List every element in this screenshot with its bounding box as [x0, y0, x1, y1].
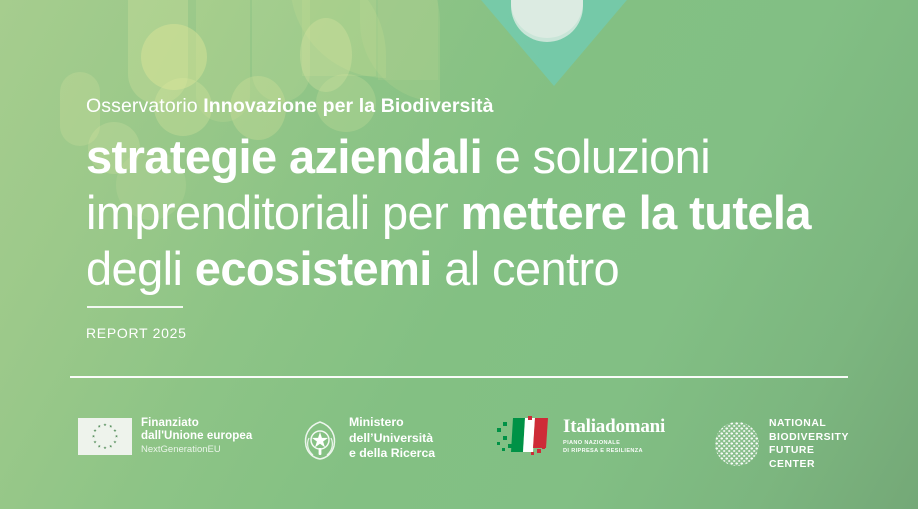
eyebrow-light: Osservatorio	[86, 95, 198, 117]
eu-star-icon	[103, 423, 106, 426]
eu-star-icon	[93, 440, 96, 443]
report-cover: Osservatorio Innovazione per la Biodiver…	[0, 0, 918, 509]
nbfc-line-2: BIODIVERSITY	[769, 431, 860, 445]
ministero-text-block: Ministero dell’Università e della Ricerc…	[349, 415, 435, 462]
ministero-line-1: Ministero	[349, 415, 435, 431]
eyebrow-bold: Innovazione per la Biodiversità	[203, 95, 493, 117]
headline-bold-2: mettere la	[461, 186, 677, 239]
eu-star-icon	[115, 435, 118, 438]
title-underline-rule	[87, 306, 183, 308]
logo-european-union: Finanziato dall'Unione europea NextGener…	[78, 417, 252, 456]
italiadomani-title: Italiadomani	[563, 417, 665, 436]
nbfc-globe-icon	[715, 422, 759, 466]
report-label: REPORT 2025	[86, 325, 187, 341]
eu-line-2: dall'Unione europea	[141, 430, 252, 443]
italiadomani-text-block: Italiadomani PIANO NAZIONALE DI RIPRESA …	[563, 417, 665, 455]
ministero-line-2: dell’Università	[349, 431, 435, 447]
nbfc-text-block: NATIONAL BIODIVERSITY FUTURE CENTER	[769, 417, 860, 472]
eu-star-icon	[93, 429, 96, 432]
eu-line-1: Finanziato	[141, 417, 252, 430]
italiadomani-sub-1: PIANO NAZIONALE	[563, 439, 665, 447]
italian-republic-emblem-icon	[300, 418, 340, 460]
eu-star-icon	[113, 429, 116, 432]
eu-star-icon	[92, 435, 95, 438]
headline-light-3: degli	[86, 242, 182, 295]
logo-nbfc: NATIONAL BIODIVERSITY FUTURE CENTER	[715, 417, 860, 472]
nbfc-line-3: FUTURE CENTER	[769, 444, 860, 471]
italiadomani-sub-2: DI RIPRESA E RESILIENZA	[563, 447, 665, 455]
eu-star-icon	[98, 445, 101, 448]
italian-flag-icon	[495, 416, 555, 456]
page-title: strategie aziendali e soluzioni imprendi…	[86, 129, 846, 297]
footer-divider	[70, 376, 848, 378]
headline-light-4: al centro	[444, 242, 619, 295]
ministero-line-3: e della Ricerca	[349, 446, 435, 462]
nbfc-line-1: NATIONAL	[769, 417, 860, 431]
headline-bold-4: ecosistemi	[195, 242, 432, 295]
eu-star-icon	[109, 445, 112, 448]
eu-star-icon	[113, 440, 116, 443]
logo-ministero: Ministero dell’Università e della Ricerc…	[300, 415, 435, 462]
eu-star-icon	[103, 446, 106, 449]
eu-flag-icon	[78, 418, 132, 455]
funding-logo-strip: Finanziato dall'Unione europea NextGener…	[70, 405, 860, 477]
eu-text-block: Finanziato dall'Unione europea NextGener…	[141, 417, 252, 456]
headline-light-1: e soluzioni	[495, 130, 710, 183]
headline-bold-3: tutela	[689, 186, 811, 239]
eu-star-icon	[109, 425, 112, 428]
headline-bold-1: strategie aziendali	[86, 130, 482, 183]
logo-italiadomani: Italiadomani PIANO NAZIONALE DI RIPRESA …	[495, 416, 665, 456]
eu-line-3: NextGenerationEU	[141, 445, 252, 456]
headline-light-2: imprenditoriali per	[86, 186, 448, 239]
eyebrow-line: Osservatorio Innovazione per la Biodiver…	[86, 95, 494, 118]
eu-star-icon	[98, 425, 101, 428]
